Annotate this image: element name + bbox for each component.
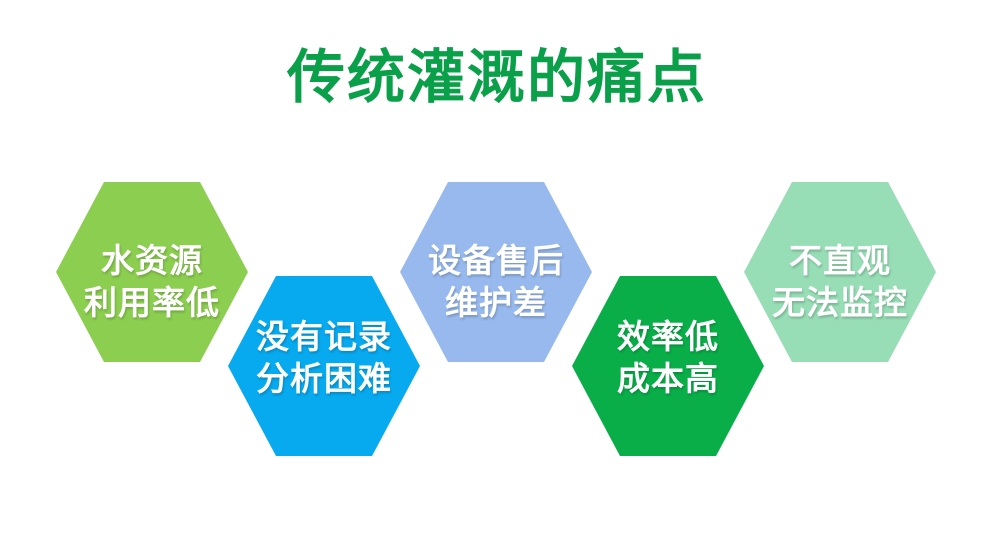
hexagon-label-low-efficiency: 效率低成本高 <box>611 316 725 400</box>
hexagon-label-line2: 维护差 <box>428 282 564 324</box>
hexagon-label-line2: 成本高 <box>617 358 719 400</box>
hexagon-label-line1: 没有记录 <box>256 316 392 358</box>
hexagon-label-line2: 无法监控 <box>772 282 908 324</box>
hexagon-label-line1: 设备售后 <box>428 240 564 282</box>
hexagon-label-no-monitoring: 不直观无法监控 <box>766 240 914 324</box>
hexagon-row: 水资源利用率低没有记录分析困难设备售后维护差效率低成本高不直观无法监控 <box>0 0 994 555</box>
hexagon-label-water-usage: 水资源利用率低 <box>78 240 226 324</box>
hexagon-low-efficiency[interactable]: 效率低成本高 <box>572 276 764 456</box>
hexagon-label-poor-service: 设备售后维护差 <box>422 240 570 324</box>
hexagon-label-line1: 水资源 <box>84 240 220 282</box>
hexagon-label-line2: 分析困难 <box>256 358 392 400</box>
hexagon-label-line1: 不直观 <box>772 240 908 282</box>
hexagon-no-monitoring[interactable]: 不直观无法监控 <box>744 182 936 362</box>
slide-canvas: 传统灌溉的痛点 水资源利用率低没有记录分析困难设备售后维护差效率低成本高不直观无… <box>0 0 994 555</box>
hexagon-label-line2: 利用率低 <box>84 282 220 324</box>
hexagon-water-usage[interactable]: 水资源利用率低 <box>56 182 248 362</box>
hexagon-label-no-records: 没有记录分析困难 <box>250 316 398 400</box>
hexagon-poor-service[interactable]: 设备售后维护差 <box>400 182 592 362</box>
hexagon-label-line1: 效率低 <box>617 316 719 358</box>
hexagon-no-records[interactable]: 没有记录分析困难 <box>228 276 420 456</box>
